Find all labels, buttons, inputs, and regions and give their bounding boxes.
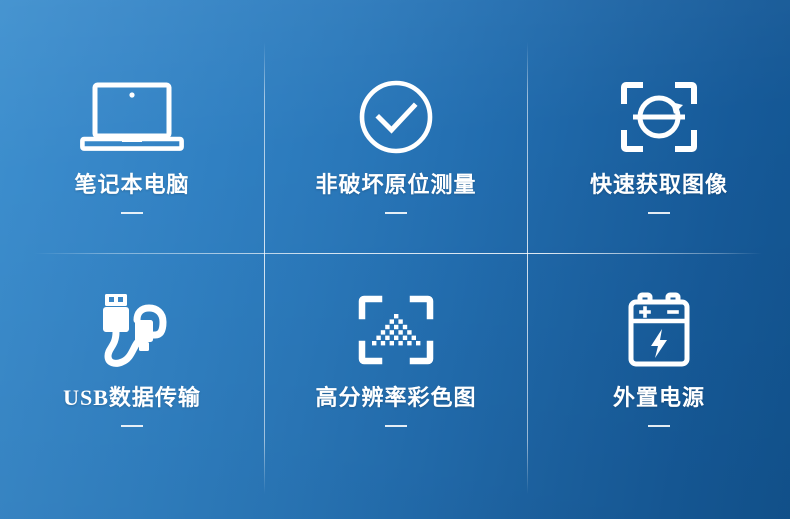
feature-cell-external-power[interactable]: 外置电源 [528,253,790,519]
feature-dash [648,425,670,427]
feature-cell-usb-transfer[interactable]: USB数据传输 [0,253,264,519]
feature-grid: 笔记本电脑 非破坏原位测量 [0,0,790,519]
feature-cell-fast-image-capture[interactable]: 快速获取图像 [528,0,790,253]
feature-dash [121,212,143,214]
feature-title: 高分辨率彩色图 [315,387,476,409]
feature-dash [385,425,407,427]
check-circle-icon [358,78,434,156]
feature-grid-panel: 笔记本电脑 非破坏原位测量 [0,0,790,519]
scan-refresh-icon [619,78,699,156]
feature-dash [385,212,407,214]
battery-icon [626,291,692,369]
usb-cable-icon [89,291,175,369]
feature-cell-high-res-color-map[interactable]: 高分辨率彩色图 [264,253,528,519]
laptop-icon [80,78,184,156]
feature-dash [648,212,670,214]
feature-cell-nondestructive-measurement[interactable]: 非破坏原位测量 [264,0,528,253]
feature-title: 笔记本电脑 [74,174,189,196]
feature-dash [121,425,143,427]
feature-title: USB数据传输 [63,387,201,409]
feature-cell-laptop[interactable]: 笔记本电脑 [0,0,264,253]
scan-pixel-triangle-icon [357,291,435,369]
feature-title: 非破坏原位测量 [315,174,476,196]
feature-title: 外置电源 [613,387,705,409]
feature-title: 快速获取图像 [590,174,728,196]
